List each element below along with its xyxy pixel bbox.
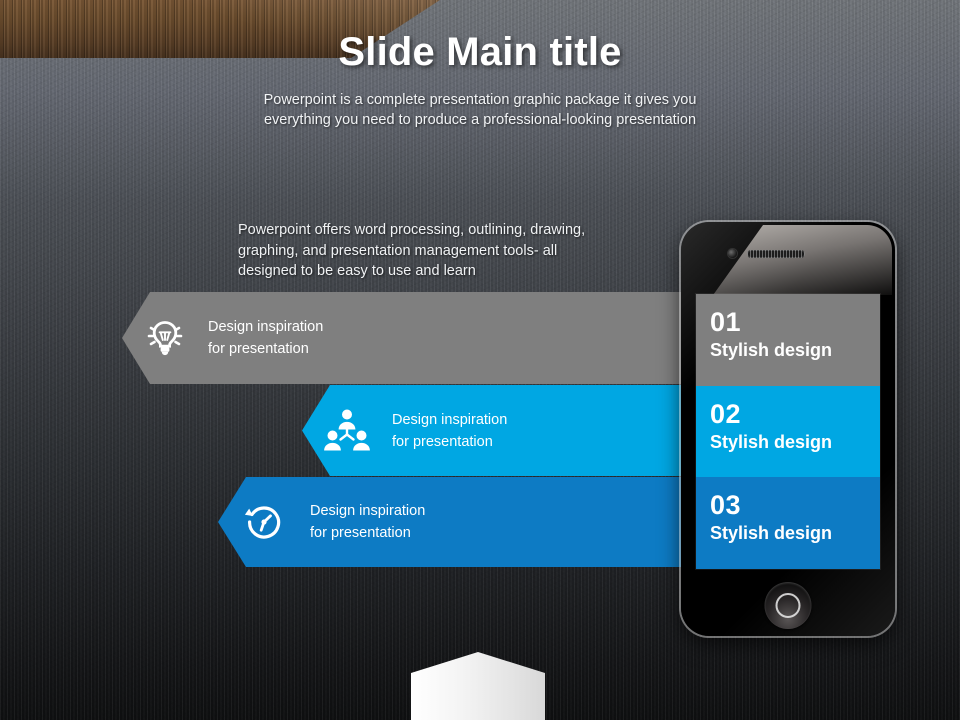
pentagon-decoration [411, 652, 545, 720]
screen-row-1[interactable]: 01 Stylish design [696, 294, 880, 386]
screen-row-3-label: Stylish design [710, 521, 880, 545]
home-button[interactable] [765, 582, 812, 629]
banner-2-line-2: for presentation [392, 431, 507, 453]
banner-3-line-2: for presentation [310, 522, 425, 544]
phone-screen: 01 Stylish design 02 Stylish design 03 S… [696, 294, 880, 569]
banner-3-text: Design inspiration for presentation [310, 500, 425, 544]
screen-row-1-number: 01 [710, 307, 880, 337]
lightbulb-icon [122, 314, 208, 362]
banner-item-3[interactable]: Design inspiration for presentation [218, 477, 682, 567]
phone-mockup: 01 Stylish design 02 Stylish design 03 S… [681, 222, 895, 636]
screen-row-3-number: 03 [710, 490, 880, 520]
subtitle-line-1: Powerpoint is a complete presentation gr… [264, 92, 697, 108]
screen-row-2-label: Stylish design [710, 430, 880, 454]
front-camera-icon [728, 249, 737, 258]
body-line-1: Powerpoint offers word processing, outli… [238, 222, 585, 238]
screen-row-1-label: Stylish design [710, 338, 880, 362]
team-org-chart-icon [302, 408, 392, 454]
banner-item-1[interactable]: Design inspiration for presentation [122, 292, 682, 384]
earpiece-speaker-icon [747, 250, 805, 258]
banner-1-text: Design inspiration for presentation [208, 316, 323, 360]
body-paragraph: Powerpoint offers word processing, outli… [238, 220, 658, 282]
banner-1-line-2: for presentation [208, 338, 323, 360]
screen-row-2-number: 02 [710, 399, 880, 429]
clock-timer-icon [218, 498, 310, 546]
screen-row-2[interactable]: 02 Stylish design [696, 386, 880, 478]
banner-1-line-1: Design inspiration [208, 319, 323, 335]
banner-item-2[interactable]: Design inspiration for presentation [302, 385, 682, 476]
body-line-3: designed to be easy to use and learn [238, 263, 476, 279]
phone-screen-gloss [684, 225, 892, 295]
banner-2-line-1: Design inspiration [392, 412, 507, 428]
slide-canvas: Slide Main title Powerpoint is a complet… [0, 0, 960, 720]
banner-3-line-1: Design inspiration [310, 503, 425, 519]
banner-2-text: Design inspiration for presentation [392, 409, 507, 453]
home-button-ring-icon [776, 593, 801, 618]
screen-row-3[interactable]: 03 Stylish design [696, 477, 880, 569]
body-line-2: graphing, and presentation management to… [238, 243, 557, 259]
subtitle-line-2: everything you need to produce a profess… [264, 112, 696, 128]
page-subtitle: Powerpoint is a complete presentation gr… [190, 90, 770, 130]
page-title: Slide Main title [0, 30, 960, 75]
